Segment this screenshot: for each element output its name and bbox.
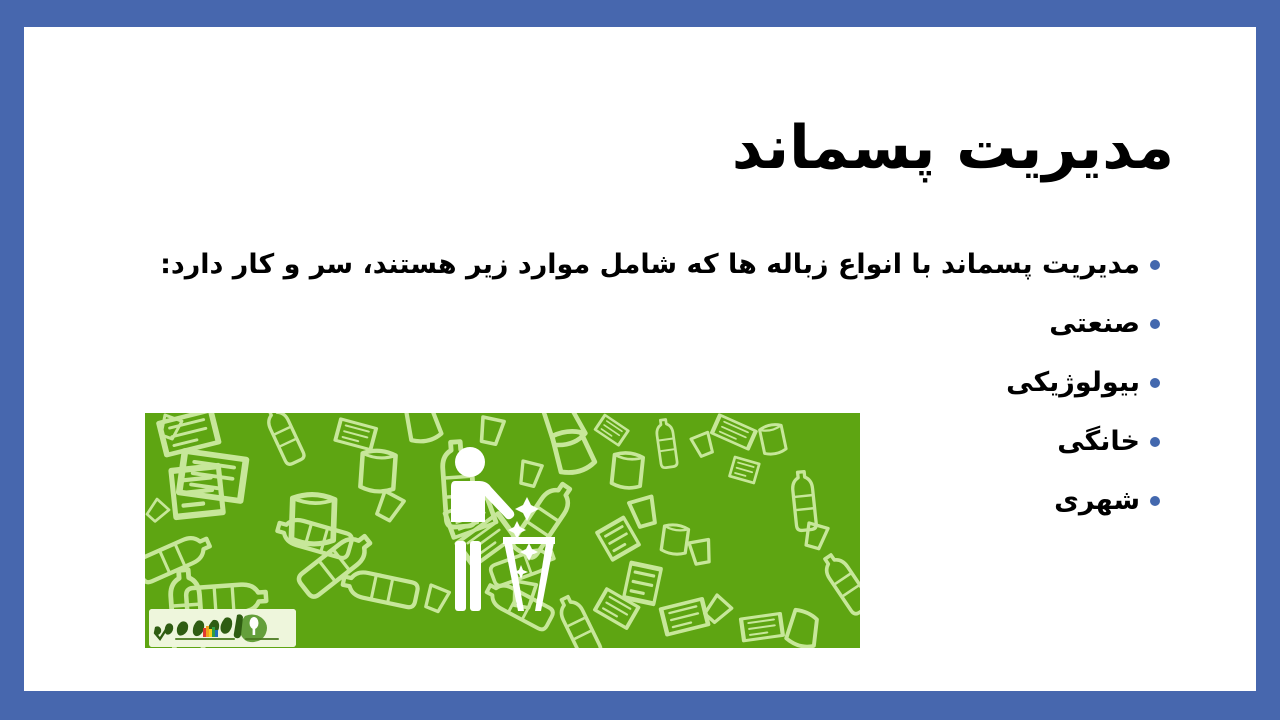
- slide-canvas: مدیریت پسماند مدیریت پسماند با انواع زبا…: [24, 27, 1256, 691]
- list-item-label: مدیریت پسماند با انواع زباله ها که شامل …: [100, 243, 1140, 287]
- presentation-slide: مدیریت پسماند مدیریت پسماند با انواع زبا…: [0, 0, 1280, 720]
- bullet-dot-icon: [1150, 260, 1160, 270]
- list-item: بیولوژیکی: [100, 361, 1160, 420]
- list-item: صنعتی: [100, 302, 1160, 361]
- bullet-dot-icon: [1150, 496, 1160, 506]
- bullet-dot-icon: [1150, 437, 1160, 447]
- bullet-dot-icon: [1150, 378, 1160, 388]
- page-title: مدیریت پسماند: [174, 111, 1174, 186]
- waste-management-image: [145, 413, 860, 648]
- litter-bin-pictogram-icon: [441, 445, 571, 625]
- image-watermark-logo: [149, 609, 296, 647]
- list-item-label: بیولوژیکی: [100, 361, 1140, 405]
- list-item-label: صنعتی: [100, 302, 1140, 346]
- bullet-dot-icon: [1150, 319, 1160, 329]
- watermark-graphic-icon: [149, 609, 296, 647]
- list-item: مدیریت پسماند با انواع زباله ها که شامل …: [100, 243, 1160, 302]
